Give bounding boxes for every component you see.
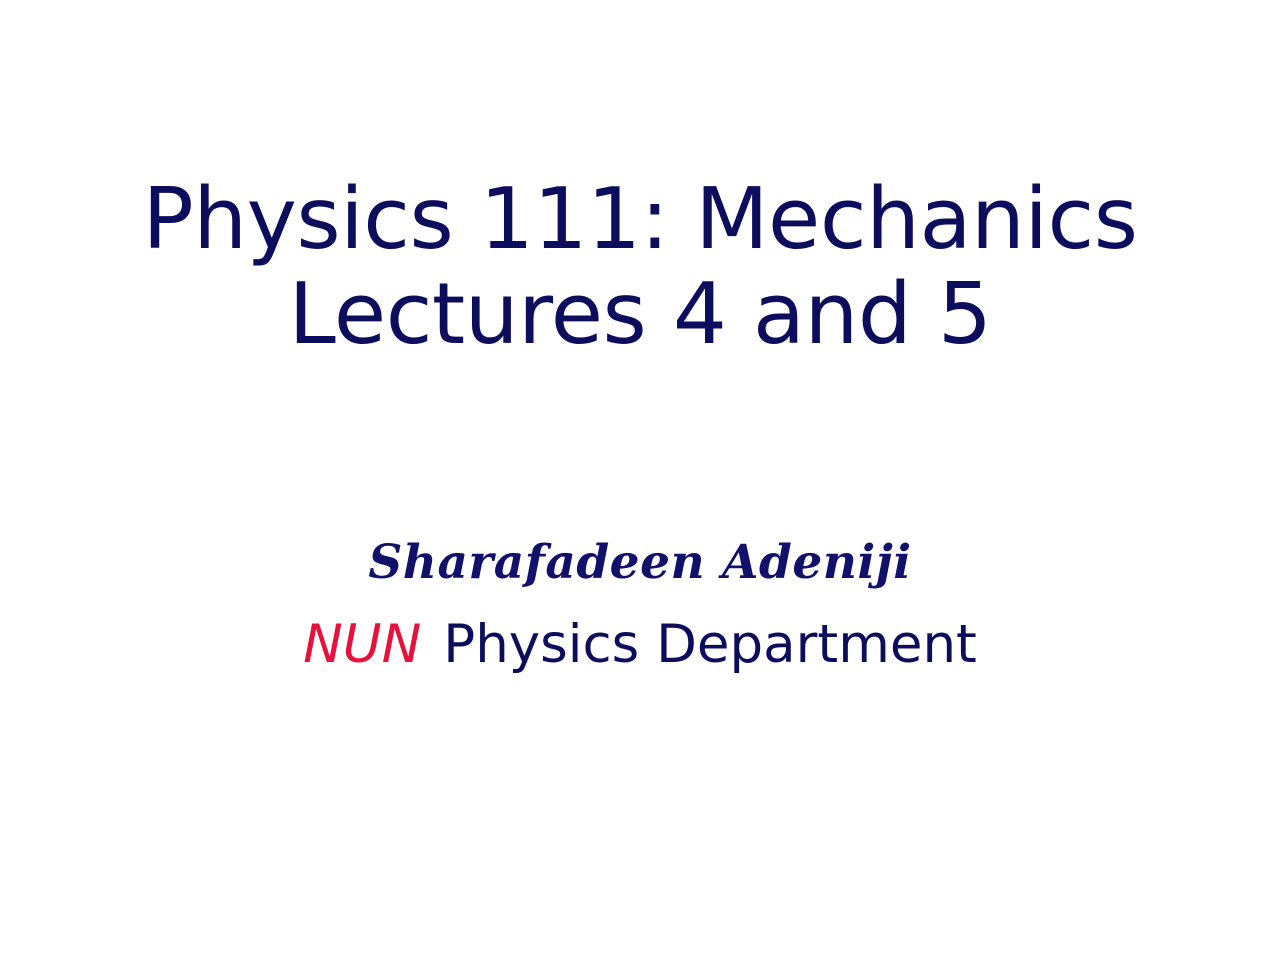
department-name: Physics Department — [443, 614, 977, 675]
title-slide: Physics 111: Mechanics Lectures 4 and 5 … — [0, 0, 1280, 960]
affiliation-line: NUNPhysics Department — [0, 614, 1280, 676]
author-name: Sharafadeen Adeniji — [0, 534, 1280, 592]
title-block: Physics 111: Mechanics Lectures 4 and 5 — [0, 172, 1280, 362]
subtitle-block: Sharafadeen Adeniji NUNPhysics Departmen… — [0, 534, 1280, 676]
organization-name: NUN — [303, 614, 421, 675]
slide-title: Physics 111: Mechanics Lectures 4 and 5 — [0, 172, 1280, 362]
